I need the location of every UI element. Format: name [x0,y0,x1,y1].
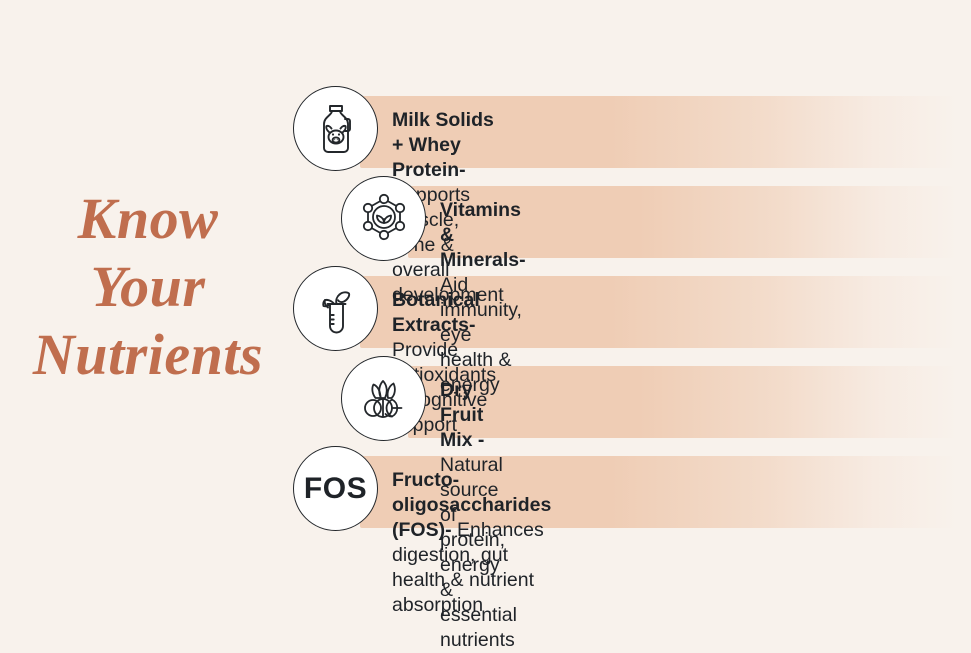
list-item-lead: Vitamins & Minerals- [440,199,526,271]
molecule-leaf-icon [341,176,426,261]
list-item-lead: Dry Fruit Mix - [440,379,489,451]
milk-bottle-cow-icon [293,86,378,171]
list-item-text: Fructo-oligosaccharides (FOS)- Enhances … [392,468,551,618]
nutrients-infographic: Know Your Nutrients [0,0,971,601]
list-item-lead: Botanical Extracts- [392,289,485,336]
test-tube-leaves-icon [293,266,378,351]
nuts-dry-fruit-icon [341,356,426,441]
list-item-lead: Milk Solids + Whey Protein- [392,109,499,181]
fos-icon-label: FOS [304,472,367,506]
fos-text-icon: FOS [293,446,378,531]
nutrient-list: Milk Solids + Whey Protein- Supports mus… [0,0,971,601]
